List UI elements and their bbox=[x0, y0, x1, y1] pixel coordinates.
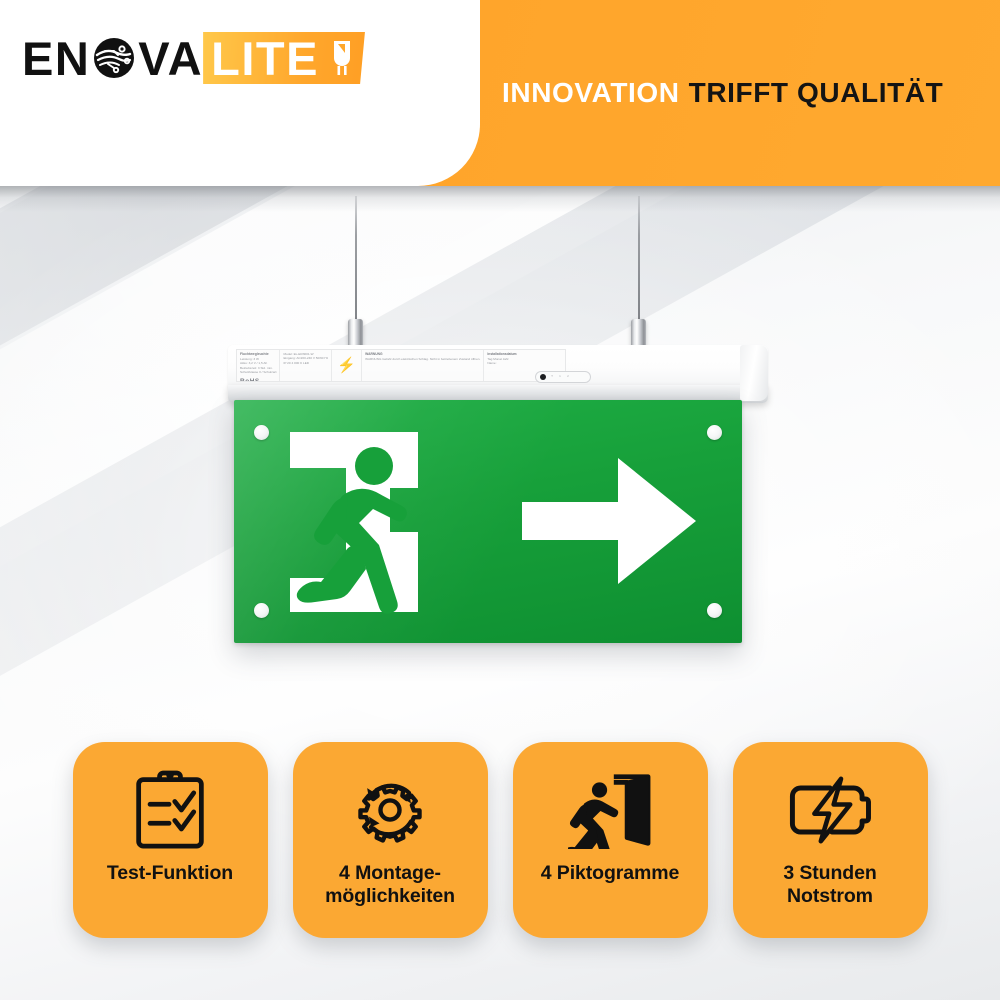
badge-montage[interactable]: 4 Montage-möglichkeiten bbox=[293, 742, 488, 938]
label-compliance-marks: RoHS bbox=[240, 377, 276, 382]
suspension-cable bbox=[638, 196, 640, 326]
badge-label: Test-Funktion bbox=[99, 862, 241, 885]
badge-label: 3 StundenNotstrom bbox=[775, 862, 884, 908]
clipboard-checklist-icon bbox=[132, 768, 208, 852]
control-tick: 2 bbox=[566, 376, 570, 379]
status-led-icon bbox=[540, 374, 546, 380]
label-install-row: Name: bbox=[487, 361, 516, 365]
mounting-screw bbox=[254, 425, 269, 440]
suspension-cable bbox=[355, 196, 357, 326]
exit-door-runner-icon bbox=[568, 768, 652, 852]
exit-sign-panel bbox=[234, 400, 742, 643]
control-panel[interactable]: T 1 2 bbox=[535, 371, 591, 383]
badge-notstrom[interactable]: 3 StundenNotstrom bbox=[733, 742, 928, 938]
badge-piktogramme[interactable]: 4 Piktogramme bbox=[513, 742, 708, 938]
luminaire-housing: Fluchtwegleuchte Leistung: 3 W Akku: 3,2… bbox=[228, 345, 768, 403]
gear-rotate-icon bbox=[350, 768, 430, 852]
label-spec-3: IP 20 4 000 K LED bbox=[283, 361, 328, 365]
mounting-screw bbox=[254, 603, 269, 618]
label-line-4: Schutzklasse II / Schutzart bbox=[240, 370, 276, 374]
label-column-install: Installationsdatum Tag Monat Jahr Name: bbox=[484, 350, 519, 381]
badge-label: 4 Piktogramme bbox=[533, 862, 688, 885]
housing-end-cap bbox=[740, 345, 768, 401]
feature-badges: Test-Funktion 4 Montage-möglichkeiten bbox=[0, 742, 1000, 967]
label-column-model: Model: EL-ER3001-W Eingang: AC200-240 V … bbox=[280, 350, 332, 381]
label-column-warning: WARNUNG WARNUNG Gefahr durch elektrische… bbox=[362, 350, 484, 381]
running-man-exit-icon bbox=[286, 428, 466, 616]
battery-bolt-icon bbox=[786, 768, 874, 852]
control-tick: 1 bbox=[558, 376, 562, 379]
product-label: Fluchtwegleuchte Leistung: 3 W Akku: 3,2… bbox=[236, 349, 566, 382]
label-column-specs: Fluchtwegleuchte Leistung: 3 W Akku: 3,2… bbox=[237, 350, 280, 381]
marketing-banner: INNOVATION TRIFFT QUALITÄT EN bbox=[0, 0, 1000, 1000]
arrow-right-icon bbox=[522, 452, 698, 590]
label-warning-text: WARNUNG Gefahr durch elektrischen Schlag… bbox=[365, 357, 480, 361]
electric-hazard-icon: ⚡ bbox=[332, 350, 362, 381]
badge-label: 4 Montage-möglichkeiten bbox=[317, 862, 463, 908]
control-tick: T bbox=[550, 376, 554, 379]
badge-test-funktion[interactable]: Test-Funktion bbox=[73, 742, 268, 938]
mounting-screw bbox=[707, 603, 722, 618]
mounting-screw bbox=[707, 425, 722, 440]
